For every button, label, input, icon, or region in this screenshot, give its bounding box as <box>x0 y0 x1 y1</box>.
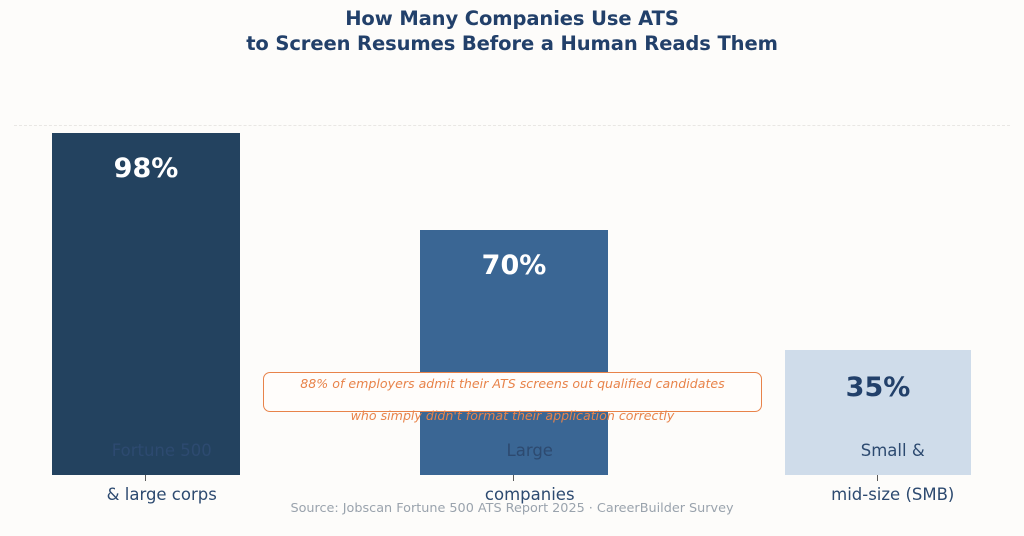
bar-value-label-smb: 35% <box>785 372 971 403</box>
source-note: Source: Jobscan Fortune 500 ATS Report 2… <box>0 501 1024 516</box>
bar-value-label-large-companies: 70% <box>420 250 608 281</box>
bar-value-label-fortune-500: 98% <box>52 153 240 184</box>
x-axis-label-large-companies-line-1: Large <box>507 441 553 460</box>
plot-area: 98% Fortune 500 & large corps 70% Large … <box>0 0 1024 536</box>
annotation-text-line-1: 88% of employers admit their ATS screens… <box>300 376 724 391</box>
annotation-text-line-2: who simply didn't format their applicati… <box>351 408 675 423</box>
gridline-top <box>14 125 1010 126</box>
chart-figure: How Many Companies Use ATS to Screen Res… <box>0 0 1024 536</box>
annotation-callout: 88% of employers admit their ATS screens… <box>263 372 762 412</box>
x-axis-label-smb-line-1: Small & <box>861 441 925 460</box>
annotation-text: 88% of employers admit their ATS screens… <box>300 360 724 424</box>
x-axis-label-fortune-500-line-1: Fortune 500 <box>112 441 212 460</box>
